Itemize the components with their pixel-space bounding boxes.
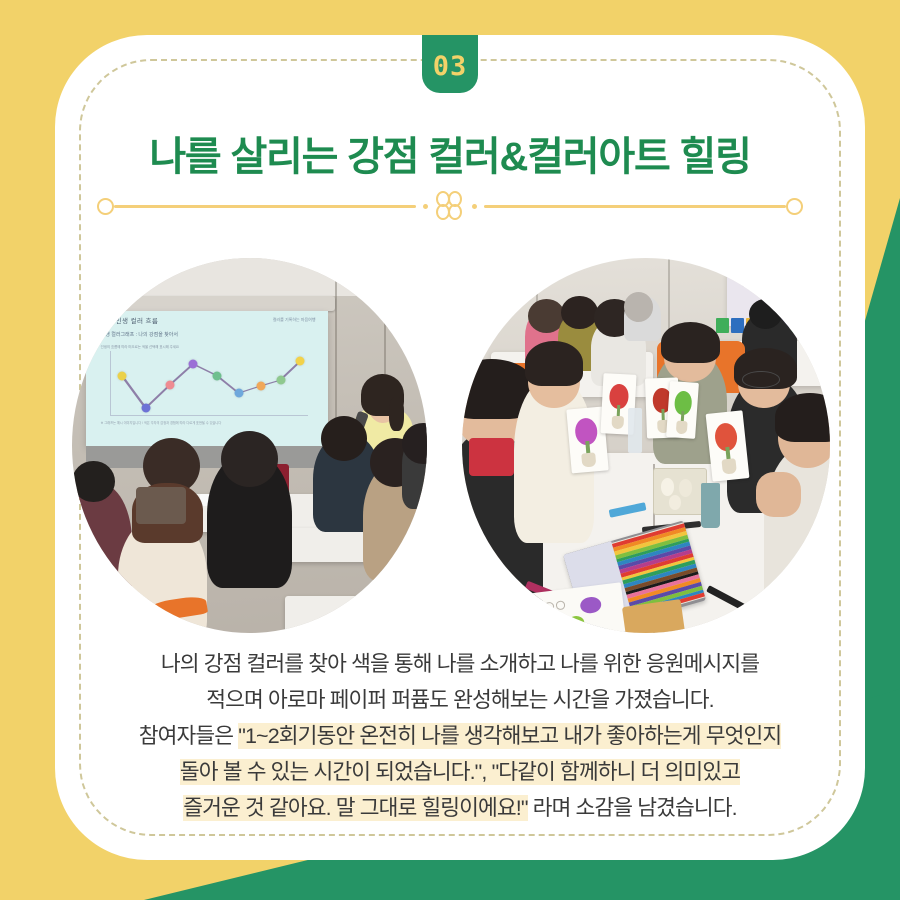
card-news-canvas: 03 나를 살리는 강점 컬러&컬러아트 힐링 나의 인생 컬러 흐름 컬러를 … <box>0 0 900 900</box>
body-text-plain: 라며 소감을 남겼습니다. <box>528 796 737 820</box>
body-text-highlighted: 즐거운 것 같아요. 말 그대로 힐링이에요!" <box>183 795 527 821</box>
workshop-table-photo-content <box>462 258 830 633</box>
slide-footer-note: ※ 그래프는 예시 이미지입니다 / 색은 각자의 감정과 경험에 따라 다르게… <box>101 421 311 426</box>
color-art-card <box>666 381 699 439</box>
section-number-badge: 03 <box>422 35 478 93</box>
circle-outline-icon-left <box>97 198 114 215</box>
body-text-plain: 적으며 아로마 페이퍼 퍼퓸도 완성해보는 시간을 가졌습니다. <box>206 688 714 712</box>
lecture-room-photo-content: 나의 인생 컬러 흐름 컬러를 기록하는 마음여행 인생 컬러그래프 : 나의 … <box>72 258 427 633</box>
slide-title: 나의 인생 컬러 흐름 <box>101 315 159 325</box>
color-art-card <box>705 410 749 481</box>
body-text-plain: 나의 강점 컬러를 찾아 색을 통해 나를 소개하고 나를 위한 응원메시지를 <box>161 652 759 676</box>
slide-note: 인생의 흐름에 따라 떠오르는 색을 선택해 표시해 주세요 <box>101 344 179 349</box>
teal-cup <box>701 483 719 528</box>
body-text-highlighted: 돌아 볼 수 있는 시간이 되었습니다.", "다같이 함께하니 더 의미있고 <box>180 759 740 785</box>
body-line-2: 적으며 아로마 페이퍼 퍼퓸도 완성해보는 시간을 가졌습니다. <box>55 682 865 718</box>
body-line-5: 즐거운 것 같아요. 말 그대로 힐링이에요!" 라며 소감을 남겼습니다. <box>55 790 865 826</box>
section-number-label: 03 <box>433 49 468 80</box>
body-paragraph: 나의 강점 컬러를 찾아 색을 통해 나를 소개하고 나를 위한 응원메시지를 … <box>55 646 865 826</box>
body-line-4: 돌아 볼 수 있는 시간이 되었습니다.", "다같이 함께하니 더 의미있고 <box>55 754 865 790</box>
workshop-table-photo <box>462 258 830 633</box>
divider-line-left <box>114 205 416 208</box>
decorative-divider <box>97 190 803 222</box>
body-line-3: 참여자들은 "1~2회기동안 온전히 나를 생각해보고 내가 좋아하는게 무엇인… <box>55 718 865 754</box>
body-line-1: 나의 강점 컬러를 찾아 색을 통해 나를 소개하고 나를 위한 응원메시지를 <box>55 646 865 682</box>
page-title: 나를 살리는 강점 컬러&컬러아트 힐링 <box>0 124 900 182</box>
divider-line-right <box>484 205 786 208</box>
aroma-paper-perfume-tray <box>653 468 707 515</box>
small-dot-icon-left <box>423 204 428 209</box>
slide-subtitle: 인생 컬러그래프 : 나의 강점을 찾아서 <box>101 331 178 338</box>
lecture-room-photo: 나의 인생 컬러 흐름 컬러를 기록하는 마음여행 인생 컬러그래프 : 나의 … <box>72 258 427 633</box>
body-text-highlighted: "1~2회기동안 온전히 나를 생각해보고 내가 좋아하는게 무엇인지 <box>238 723 781 749</box>
wall-plate <box>386 307 399 328</box>
small-dot-icon-right <box>472 204 477 209</box>
projection-screen: 나의 인생 컬러 흐름 컬러를 기록하는 마음여행 인생 컬러그래프 : 나의 … <box>86 311 327 446</box>
projector-screen-bar <box>79 296 335 311</box>
slide-line-chart <box>110 351 308 416</box>
body-text-plain: 참여자들은 <box>139 724 238 748</box>
slide-corner-label: 컬러를 기록하는 마음여행 <box>273 317 316 323</box>
four-petal-clover-icon <box>435 191 465 221</box>
circle-outline-icon-right <box>786 198 803 215</box>
